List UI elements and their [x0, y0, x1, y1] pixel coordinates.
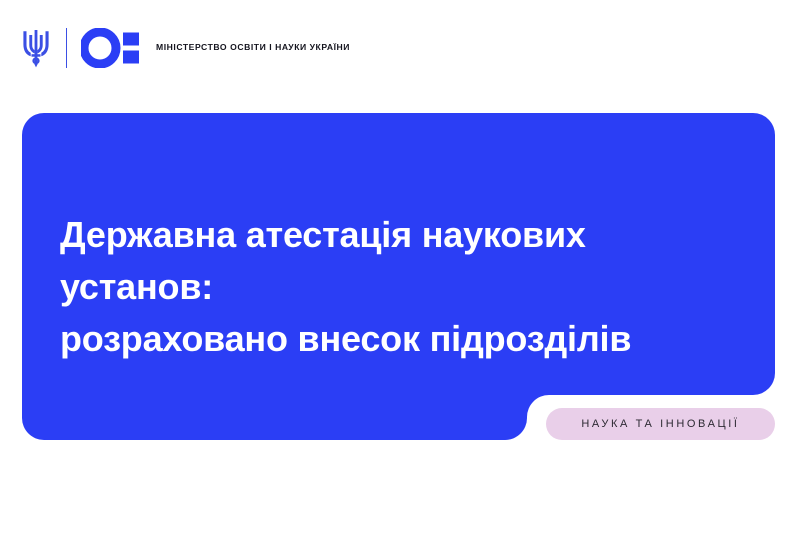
hero-title: Державна атестація наукових установ: роз… [60, 209, 740, 365]
category-tag: Наука та інновації [546, 408, 775, 440]
logo-divider [66, 28, 67, 68]
ukraine-trident-icon [22, 28, 50, 68]
mon-circle-square-logo-icon [81, 28, 143, 68]
hero-panel: Державна атестація наукових установ: роз… [22, 113, 775, 440]
ministry-name-text: МІНІСТЕРСТВО ОСВІТИ І НАУКИ УКРАЇНИ [156, 42, 350, 54]
header-logo-lockup: МІНІСТЕРСТВО ОСВІТИ І НАУКИ УКРАЇНИ [22, 22, 350, 74]
category-tag-label: Наука та інновації [581, 418, 739, 430]
